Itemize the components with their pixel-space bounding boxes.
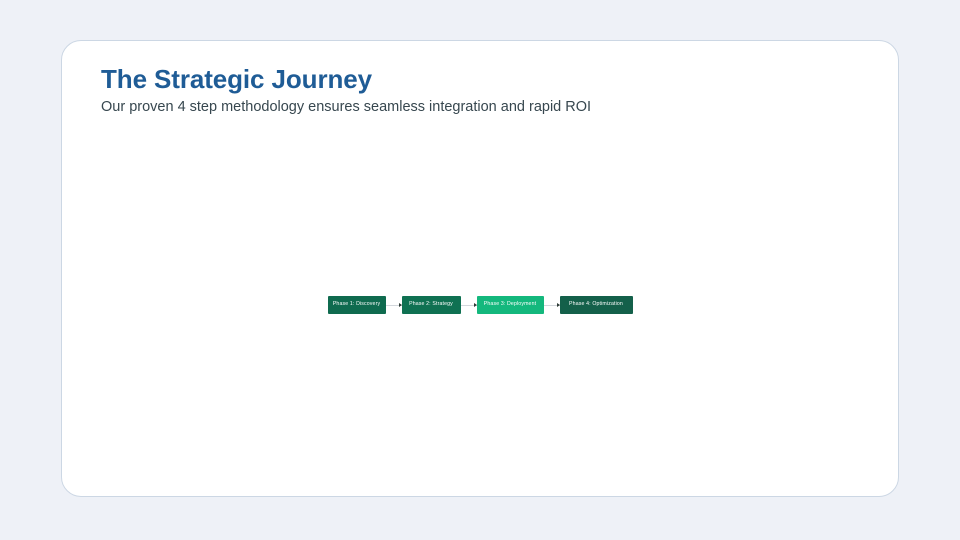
flow-step-1[interactable]: Phase 1: Discovery — [328, 296, 386, 314]
flow-step-label: Phase 3: Deployment — [484, 302, 536, 307]
flow-connector-arrow-icon — [461, 296, 477, 314]
flow-step-2[interactable]: Phase 2: Strategy — [402, 296, 461, 314]
flow-connector-arrowhead — [399, 303, 402, 307]
flow-step-4[interactable]: Phase 4: Optimization — [560, 296, 633, 314]
process-flow-diagram: Phase 1: DiscoveryPhase 2: StrategyPhase… — [62, 296, 898, 314]
flow-connector-arrowhead — [557, 303, 560, 307]
flow-step-label: Phase 2: Strategy — [409, 302, 453, 307]
page-subtitle: Our proven 4 step methodology ensures se… — [101, 99, 591, 115]
flow-step-3[interactable]: Phase 3: Deployment — [477, 296, 544, 314]
page-title: The Strategic Journey — [101, 64, 372, 95]
flow-step-label: Phase 4: Optimization — [569, 302, 623, 307]
flow-connector-arrowhead — [474, 303, 477, 307]
flow-connector-arrow-icon — [544, 296, 560, 314]
slide-card: The Strategic Journey Our proven 4 step … — [61, 40, 899, 497]
flow-step-label: Phase 1: Discovery — [333, 302, 380, 307]
flow-connector-arrow-icon — [386, 296, 402, 314]
